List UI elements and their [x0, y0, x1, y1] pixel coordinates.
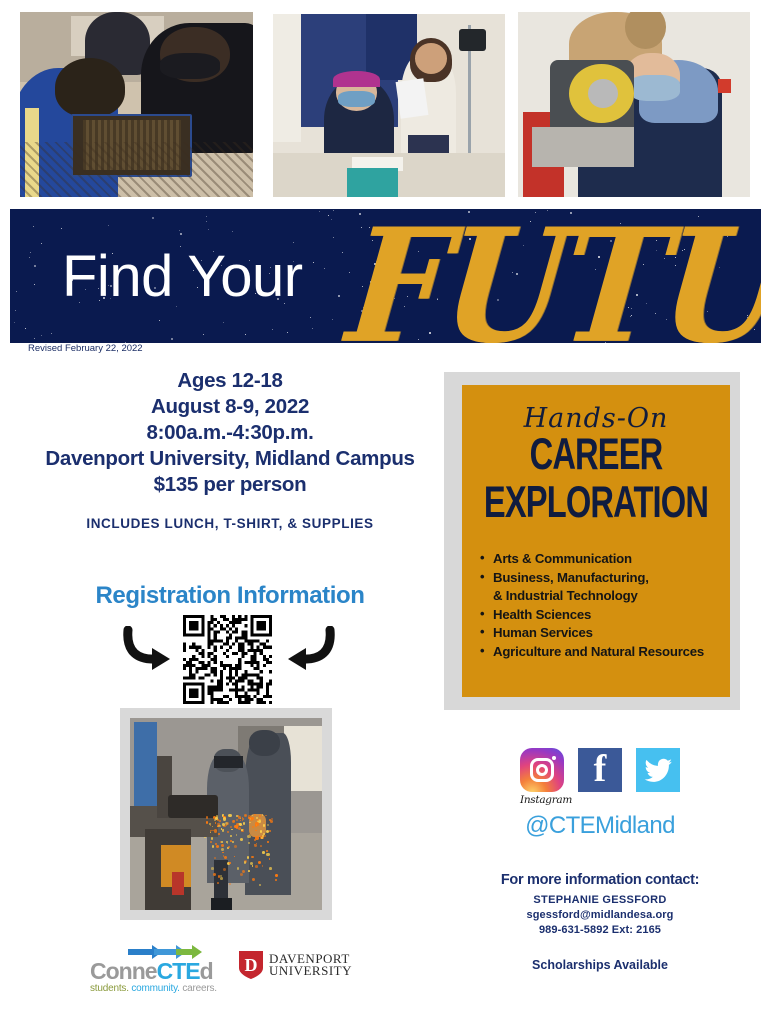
qr-zone	[120, 612, 340, 698]
event-line-times: 8:00a.m.-4:30p.m.	[20, 420, 440, 446]
career-category-list: Arts & CommunicationBusiness, Manufactur…	[480, 550, 730, 661]
career-exploration-panel: Hands-On CAREER EXPLORATION Arts & Commu…	[444, 372, 740, 710]
arrow-right-curved-icon	[122, 626, 178, 676]
connected-logo: ConneCTEd students. community. careers.	[90, 944, 240, 994]
qr-code-pattern	[183, 615, 272, 704]
photo-welding-sparks	[130, 718, 322, 910]
career-category-item: Agriculture and Natural Resources	[480, 643, 730, 662]
contact-phone: 989-631-5892 Ext: 2165	[450, 924, 750, 936]
career-category-item: Business, Manufacturing,	[480, 569, 730, 588]
banner-title-gold: FUTURE	[340, 209, 761, 343]
arrows-icon	[128, 944, 202, 960]
career-category-item: Human Services	[480, 624, 730, 643]
davenport-line2: UNIVERSITY	[269, 965, 352, 977]
event-includes-note: INCLUDES LUNCH, T-SHIRT, & SUPPLIES	[20, 516, 440, 531]
facebook-icon: f	[578, 748, 622, 792]
tagline-community: community.	[131, 983, 179, 994]
career-heading: CAREER	[481, 433, 711, 478]
contact-title: For more information contact:	[450, 872, 750, 888]
davenport-shield-icon: D	[238, 950, 264, 980]
instagram-icon	[520, 748, 564, 792]
photo-electronics-lab	[20, 12, 253, 197]
photo-welding-frame	[120, 708, 332, 920]
tagline-students: students.	[90, 983, 129, 994]
social-media-block: Instagram f @CTEMidland	[450, 748, 750, 840]
social-handle: @CTEMidland	[450, 812, 750, 840]
sparks	[195, 814, 276, 906]
event-details-block: Ages 12-18 August 8-9, 2022 8:00a.m.-4:3…	[20, 368, 440, 531]
facebook-glyph: f	[578, 748, 622, 792]
find-your-future-banner: Find Your FUTURE	[10, 209, 761, 343]
instagram-link[interactable]: Instagram	[520, 748, 564, 806]
photo-health-sciences-lab	[273, 14, 505, 197]
contact-block: For more information contact: STEPHANIE …	[450, 872, 750, 972]
svg-text:D: D	[245, 955, 258, 975]
qr-code[interactable]	[183, 615, 272, 693]
registration-information-title: Registration Information	[20, 582, 440, 610]
exploration-heading: EXPLORATION	[481, 481, 711, 526]
tagline-careers: careers.	[182, 983, 217, 994]
twitter-icon	[636, 748, 680, 792]
connected-word-part1: Conne	[90, 958, 157, 984]
flyer-page: Find Your FUTURE Revised February 22, 20…	[0, 0, 770, 1024]
contact-name: STEPHANIE GESSFORD	[450, 894, 750, 906]
twitter-bird-icon	[636, 748, 680, 792]
arrow-left-curved-icon	[280, 626, 336, 676]
connected-word-part2: CTE	[157, 958, 200, 984]
scholarships-note: Scholarships Available	[450, 958, 750, 972]
event-line-location: Davenport University, Midland Campus	[20, 446, 440, 472]
twitter-link[interactable]	[636, 748, 680, 792]
contact-email[interactable]: sgessford@midlandesa.org	[450, 909, 750, 921]
photo-metal-cutting	[518, 12, 750, 197]
career-category-item: Health Sciences	[480, 606, 730, 625]
facebook-link[interactable]: f	[578, 748, 622, 792]
event-line-dates: August 8-9, 2022	[20, 394, 440, 420]
revised-date-note: Revised February 22, 2022	[28, 343, 143, 354]
event-line-price: $135 per person	[20, 472, 440, 498]
connected-tagline: students. community. careers.	[90, 983, 240, 994]
career-category-item: Arts & Communication	[480, 550, 730, 569]
footer-logos: ConneCTEd students. community. careers. …	[90, 944, 380, 1004]
top-photo-row	[0, 12, 770, 200]
event-line-ages: Ages 12-18	[20, 368, 440, 394]
instagram-wordmark: Instagram	[520, 794, 564, 806]
connected-word-part3: d	[200, 958, 213, 984]
career-category-item: & Industrial Technology	[480, 587, 730, 606]
davenport-university-logo: D DAVENPORT UNIVERSITY	[238, 950, 378, 980]
connected-wordmark: ConneCTEd	[90, 960, 240, 982]
banner-title-white: Find Your	[62, 243, 303, 310]
davenport-wordmark: DAVENPORT UNIVERSITY	[269, 953, 352, 977]
